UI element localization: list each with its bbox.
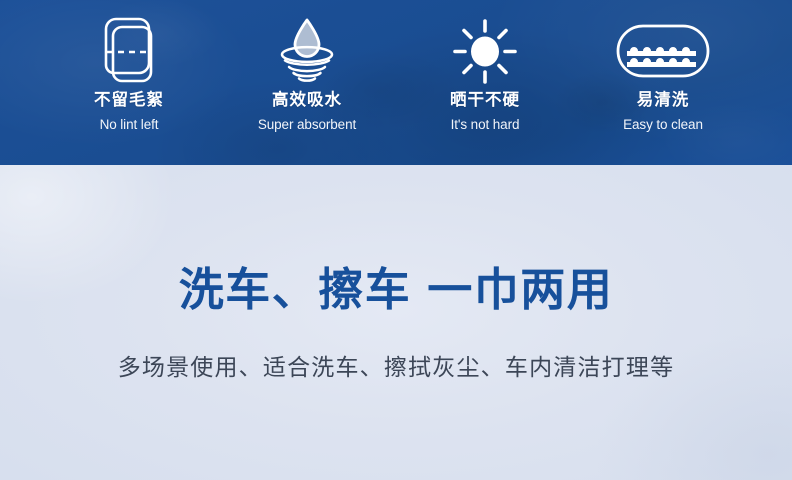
feature-item-absorbent: 高效吸水 Super absorbent [218,0,396,165]
product-banner-page: 不留毛絮 No lint left 高效吸水 Super absorbe [0,0,792,480]
page-title: 洗车、擦车一巾两用 [179,267,614,312]
feature-title-cn: 不留毛絮 [94,92,164,109]
hero-content: 洗车、擦车一巾两用 多场景使用、适合洗车、擦拭灰尘、车内清洁打理等 [0,165,792,480]
feature-item-easy-clean: 易清洗 Easy to clean [574,0,752,165]
feature-title-en: No lint left [100,118,159,132]
headline-part-2: 一巾两用 [427,264,613,315]
headline-part-1: 洗车、擦车 [179,264,412,315]
water-drop-ripple-icon [276,12,338,90]
feature-item-not-hard: 晒干不硬 It's not hard [396,0,574,165]
feature-title-cn: 晒干不硬 [450,92,520,109]
sun-icon [452,12,518,90]
feature-bar: 不留毛絮 No lint left 高效吸水 Super absorbe [0,0,792,165]
folded-towel-icon [98,12,160,90]
feature-list: 不留毛絮 No lint left 高效吸水 Super absorbe [0,0,792,165]
feature-title-en: It's not hard [451,118,520,132]
feature-title-en: Easy to clean [623,118,703,132]
feature-item-no-lint: 不留毛絮 No lint left [40,0,218,165]
feature-title-cn: 易清洗 [637,92,690,109]
feature-title-cn: 高效吸水 [272,92,342,109]
hero-section: 洗车、擦车一巾两用 多场景使用、适合洗车、擦拭灰尘、车内清洁打理等 [0,165,792,480]
scrub-pad-icon [615,12,711,90]
feature-title-en: Super absorbent [258,118,356,132]
page-subtitle: 多场景使用、适合洗车、擦拭灰尘、车内清洁打理等 [118,356,675,379]
